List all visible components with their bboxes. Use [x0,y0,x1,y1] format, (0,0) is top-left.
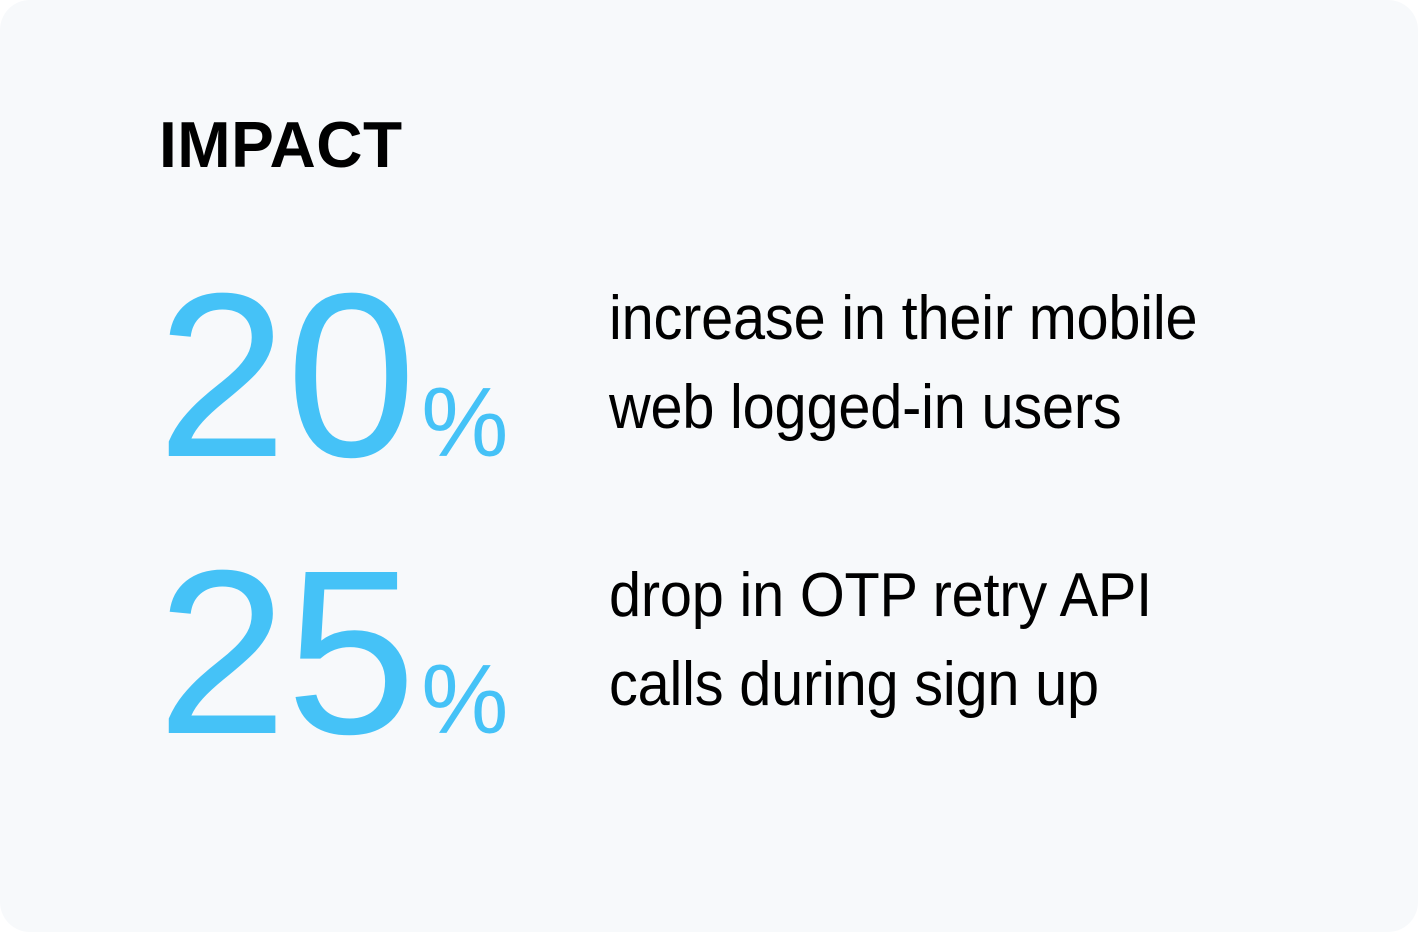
stat-description-line: drop in OTP retry API [609,551,1152,640]
stat-description: drop in OTP retry API calls during sign … [609,551,1152,729]
stat-unit-percent: % [421,373,508,471]
stat-description-line: web logged-in users [609,363,1197,452]
stat-description-line: increase in their mobile [609,274,1197,363]
stat-value: 25 [157,535,415,769]
stat-row: 20 % increase in their mobile web logged… [0,258,1418,468]
stat-value: 20 [157,258,415,492]
stat-row: 25 % drop in OTP retry API calls during … [0,535,1418,745]
stat-figure: 25 % [157,535,508,769]
stat-description: increase in their mobile web logged-in u… [609,274,1197,452]
stats-list: 20 % increase in their mobile web logged… [0,0,1418,932]
stat-figure: 20 % [157,258,508,492]
stat-unit-percent: % [421,650,508,748]
impact-card: IMPACT 20 % increase in their mobile web… [0,0,1418,932]
stat-description-line: calls during sign up [609,640,1152,729]
